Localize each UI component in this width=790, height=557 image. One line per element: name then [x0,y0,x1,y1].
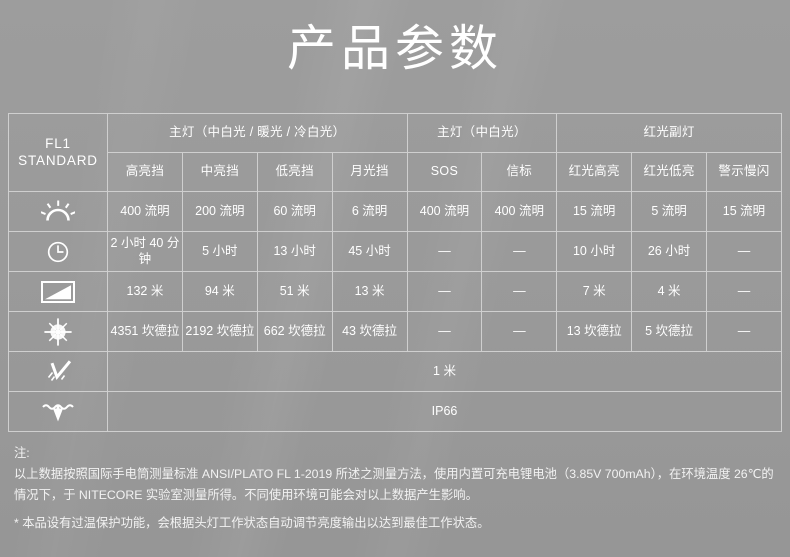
page-title: 产品参数 [0,16,790,82]
note-body: 以上数据按照国际手电筒测量标准 ANSI/PLATO FL 1-2019 所述之… [14,464,784,506]
product-spec-page: 产品参数 FL1 STANDARD 主灯（中白光 / 暖光 / 冷白光） 主灯（… [0,0,790,557]
fl1-standard-header: FL1 STANDARD [9,114,108,192]
cell-intensity-sos: — [407,312,482,352]
cell-lumens-red-low: 5 流明 [632,192,707,232]
cell-distance-red-low: 4 米 [632,272,707,312]
fl1-standard-line1: FL1 [9,136,107,153]
waterproof-icon [9,392,107,431]
cell-intensity-low: 662 坎德拉 [257,312,332,352]
cell-lumens-turbo: 400 流明 [108,192,183,232]
cell-runtime-sos: — [407,232,482,272]
column-header-beacon: 信标 [482,153,557,192]
cell-distance-low: 51 米 [257,272,332,312]
footer-notes: 注: 以上数据按照国际手电筒测量标准 ANSI/PLATO FL 1-2019 … [14,443,784,506]
table-column-header-row: 高亮挡 中亮挡 低亮挡 月光挡 SOS 信标 红光高亮 红光低亮 警示慢闪 [9,153,782,192]
cell-lumens-red-flash: 15 流明 [707,192,782,232]
cell-runtime-red-high: 10 小时 [557,232,632,272]
cell-intensity-turbo: 4351 坎德拉 [108,312,183,352]
runtime-clock-icon [9,232,107,271]
cell-distance-red-high: 7 米 [557,272,632,312]
runtime-icon-cell [9,232,108,272]
cell-runtime-turbo: 2 小时 40 分钟 [108,232,183,272]
cell-runtime-low: 13 小时 [257,232,332,272]
cell-intensity-moonlight: 43 坎德拉 [332,312,407,352]
peak-intensity-icon [9,312,107,351]
cell-distance-sos: — [407,272,482,312]
beam-distance-icon [9,272,107,311]
cell-intensity-high: 2192 坎德拉 [182,312,257,352]
cell-intensity-beacon: — [482,312,557,352]
cell-lumens-sos: 400 流明 [407,192,482,232]
cell-distance-red-flash: — [707,272,782,312]
lumens-icon [9,192,107,231]
cell-runtime-red-flash: — [707,232,782,272]
cell-runtime-moonlight: 45 小时 [332,232,407,272]
beam-distance-icon-cell [9,272,108,312]
cell-runtime-high: 5 小时 [182,232,257,272]
cell-distance-high: 94 米 [182,272,257,312]
table-row-waterproof: IP66 [9,392,782,432]
peak-intensity-icon-cell [9,312,108,352]
impact-resistance-icon [9,352,107,391]
cell-lumens-beacon: 400 流明 [482,192,557,232]
column-header-low: 低亮挡 [257,153,332,192]
fl1-standard-line2: STANDARD [9,153,107,170]
group-header-main-light: 主灯（中白光 / 暖光 / 冷白光） [108,114,408,153]
table-row-runtime: 2 小时 40 分钟 5 小时 13 小时 45 小时 — — 10 小时 26… [9,232,782,272]
cell-impact-resistance-value: 1 米 [108,352,782,392]
cell-intensity-red-high: 13 坎德拉 [557,312,632,352]
spec-table: FL1 STANDARD 主灯（中白光 / 暖光 / 冷白光） 主灯（中白光） … [8,113,782,432]
cell-distance-moonlight: 13 米 [332,272,407,312]
column-header-turbo: 高亮挡 [108,153,183,192]
column-header-red-low: 红光低亮 [632,153,707,192]
table-row-impact-resistance: 1 米 [9,352,782,392]
table-row-lumens: 400 流明 200 流明 60 流明 6 流明 400 流明 400 流明 1… [9,192,782,232]
cell-waterproof-value: IP66 [108,392,782,432]
cell-intensity-red-flash: — [707,312,782,352]
cell-runtime-beacon: — [482,232,557,272]
cell-intensity-red-low: 5 坎德拉 [632,312,707,352]
footer-star-note: * 本品设有过温保护功能，会根据头灯工作状态自动调节亮度输出以达到最佳工作状态。 [14,513,784,534]
table-row-beam-distance: 132 米 94 米 51 米 13 米 — — 7 米 4 米 — [9,272,782,312]
group-header-red-light: 红光副灯 [557,114,782,153]
cell-lumens-moonlight: 6 流明 [332,192,407,232]
table-row-peak-intensity: 4351 坎德拉 2192 坎德拉 662 坎德拉 43 坎德拉 — — 13 … [9,312,782,352]
cell-lumens-low: 60 流明 [257,192,332,232]
column-header-moonlight: 月光挡 [332,153,407,192]
lumens-icon-cell [9,192,108,232]
cell-distance-turbo: 132 米 [108,272,183,312]
table-group-header-row: FL1 STANDARD 主灯（中白光 / 暖光 / 冷白光） 主灯（中白光） … [9,114,782,153]
cell-runtime-red-low: 26 小时 [632,232,707,272]
impact-resistance-icon-cell [9,352,108,392]
column-header-high: 中亮挡 [182,153,257,192]
column-header-red-flash: 警示慢闪 [707,153,782,192]
column-header-sos: SOS [407,153,482,192]
column-header-red-high: 红光高亮 [557,153,632,192]
cell-distance-beacon: — [482,272,557,312]
cell-lumens-high: 200 流明 [182,192,257,232]
cell-lumens-red-high: 15 流明 [557,192,632,232]
group-header-main-light-neutral: 主灯（中白光） [407,114,557,153]
note-label: 注: [14,443,784,464]
waterproof-icon-cell [9,392,108,432]
